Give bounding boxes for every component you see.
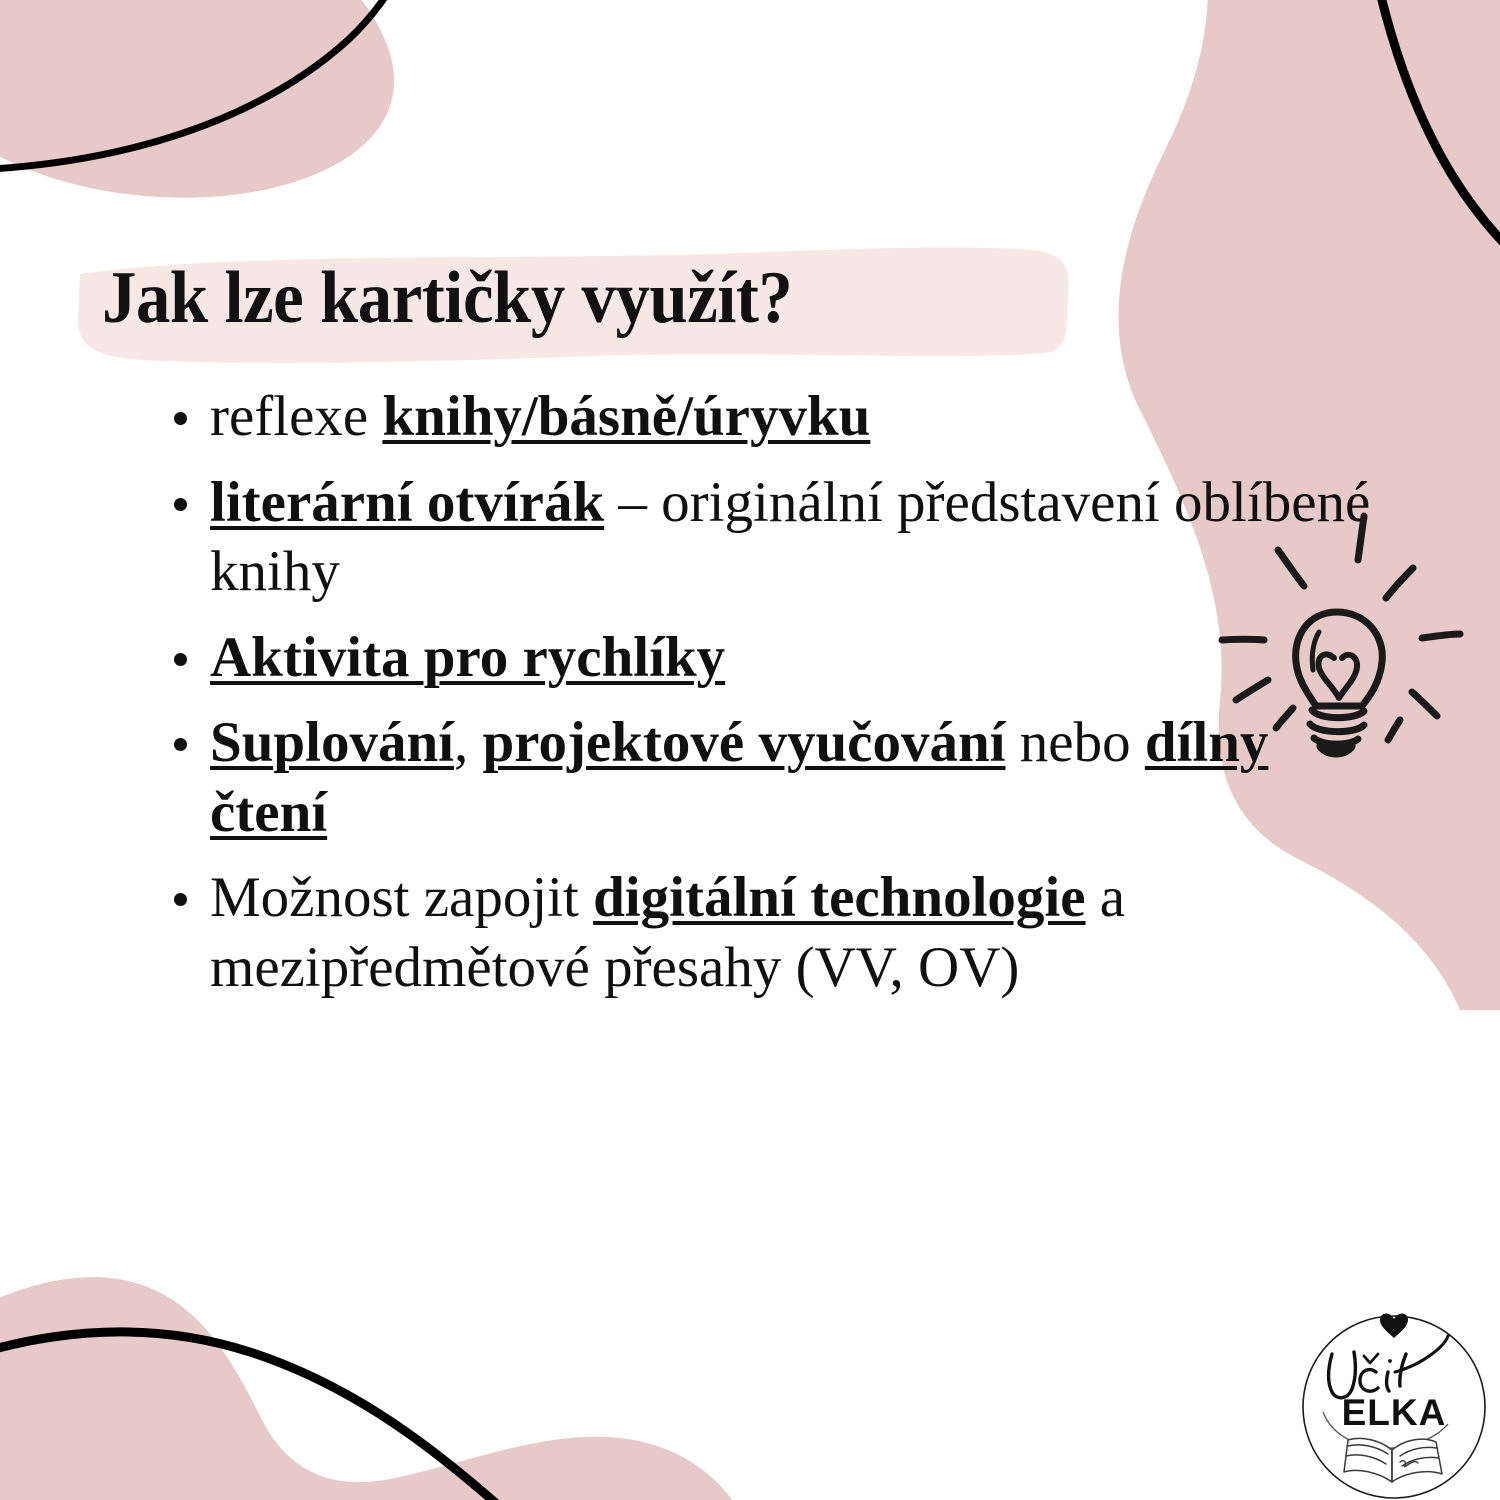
list-item-digitalni-technologie: Možnost zapojit digitální technologie a … (160, 863, 1390, 1002)
segment-emphasis: projektové vyučování (482, 711, 1005, 774)
segment-plain: reflexe (210, 385, 382, 448)
heart-icon (1380, 1313, 1408, 1338)
segment-emphasis: digitální technologie (593, 866, 1085, 929)
outline-curve-top-right (1360, 0, 1500, 320)
outline-curve-bottom-left (0, 1332, 560, 1500)
segment-emphasis: Suplování (210, 711, 454, 774)
blob-top-left (0, 0, 394, 198)
outline-curve-top-left (0, 0, 430, 171)
blob-bottom-left (0, 1277, 760, 1500)
segment-plain: nebo (1006, 711, 1145, 774)
page-title-text: Jak lze kartičky využít? (102, 258, 792, 339)
poster-canvas: Jak lze kartičky využít? reflexe knihy/b… (0, 0, 1500, 1500)
list-item-reflexe: reflexe knihy/básně/úryvku (160, 382, 1390, 452)
open-book-icon (1344, 1438, 1442, 1482)
segment-emphasis: Aktivita pro rychlíky (210, 626, 725, 689)
page-title: Jak lze kartičky využít? (72, 244, 1072, 364)
logo-script (1329, 1336, 1448, 1398)
segment-plain: , (454, 711, 483, 774)
segment-plain: Možnost zapojit (210, 866, 593, 929)
segment-emphasis: literární otvírák (210, 471, 604, 534)
brand-logo: ELKA (1296, 1306, 1492, 1500)
segment-emphasis: knihy/básně/úryvku (382, 385, 870, 448)
logo-wordmark: ELKA (1342, 1392, 1447, 1433)
lightbulb-icon (1206, 506, 1468, 762)
